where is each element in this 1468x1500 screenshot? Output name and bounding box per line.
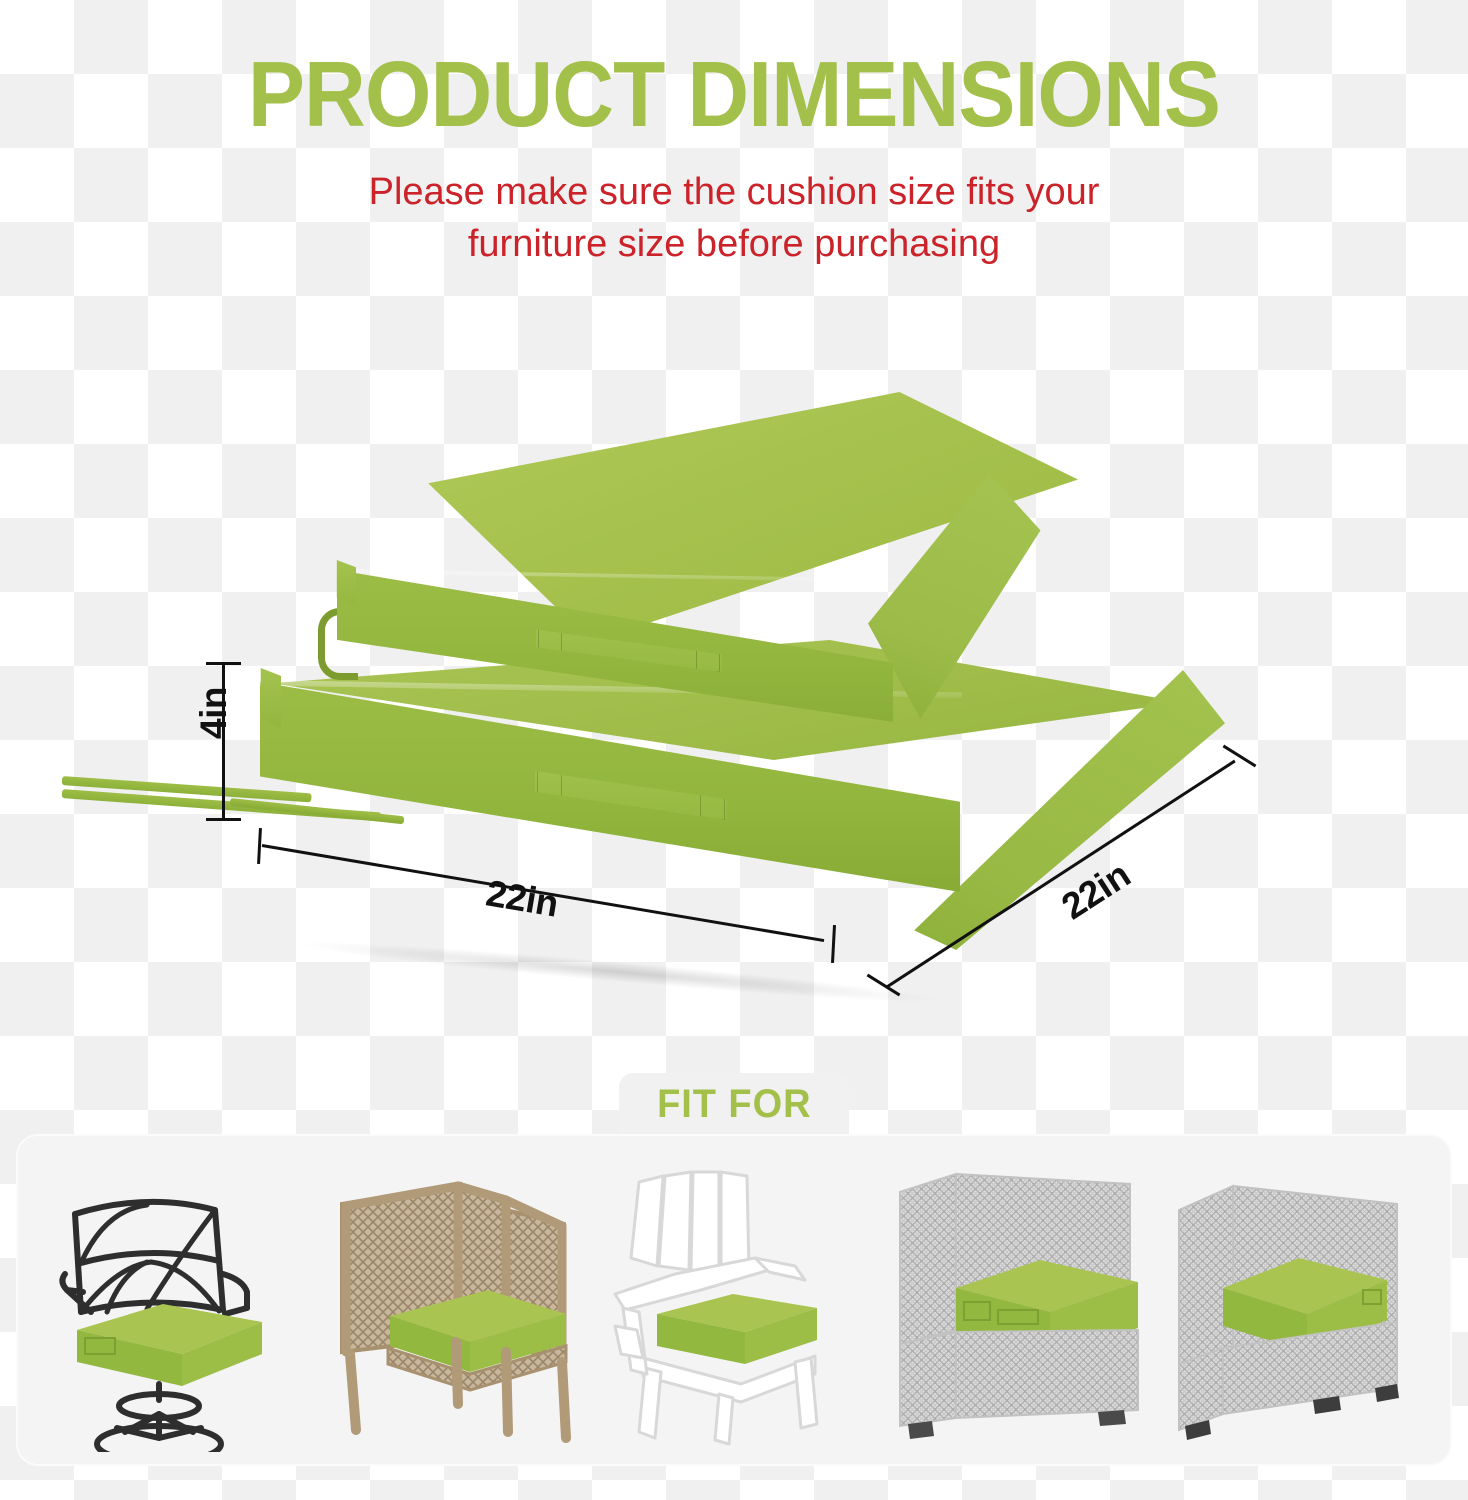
- wicker-armchair-icon: [328, 1162, 578, 1452]
- green-cushion: [657, 1294, 817, 1364]
- fit-for-tab-label: FIT FOR: [657, 1082, 811, 1127]
- rattan-sectional-middle-icon: [890, 1162, 1140, 1452]
- product-dimension-stage: 4in 22in 22in: [0, 300, 1468, 1060]
- product-dimensions-infographic: PRODUCT DIMENSIONS Please make sure the …: [0, 0, 1468, 1500]
- adirondack-chair-icon: [609, 1162, 859, 1452]
- fit-for-item-rattan-sectional-middle: [874, 1152, 1155, 1452]
- fit-for-tab: FIT FOR: [619, 1073, 849, 1135]
- subtitle-line-1: Please make sure the cushion size fits y…: [0, 166, 1468, 218]
- fit-for-item-rattan-sectional-corner: [1155, 1152, 1436, 1452]
- dimension-cap-thickness-bottom: [206, 818, 241, 821]
- rattan-sectional-corner-icon: [1171, 1162, 1421, 1452]
- cushion-top: [318, 392, 1293, 712]
- fit-for-item-row: [18, 1136, 1450, 1464]
- fit-for-item-adirondack-chair: [594, 1152, 875, 1452]
- page-title: PRODUCT DIMENSIONS: [59, 46, 1410, 142]
- dimension-cap-thickness-top: [206, 662, 241, 665]
- green-cushion: [77, 1304, 262, 1386]
- subtitle-line-2: furniture size before purchasing: [0, 218, 1468, 270]
- fit-for-panel: [16, 1134, 1452, 1466]
- fit-for-item-wicker-armchair: [313, 1152, 594, 1452]
- dimension-label-thickness: 4in: [193, 687, 235, 739]
- fit-for-item-metal-swivel-chair: [32, 1152, 313, 1452]
- metal-swivel-chair-icon: [47, 1162, 297, 1452]
- header: PRODUCT DIMENSIONS Please make sure the …: [0, 0, 1468, 300]
- dimension-line-thickness: [222, 662, 225, 820]
